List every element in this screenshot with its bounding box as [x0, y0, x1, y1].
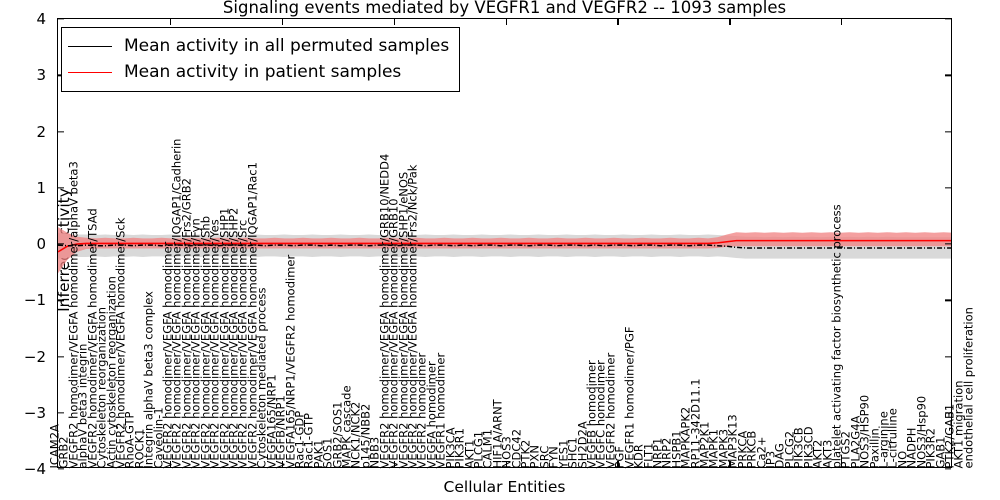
y-tick-mark	[58, 187, 64, 188]
x-tick-mark-bottom	[506, 461, 507, 467]
x-axis-title: Cellular Entities	[57, 478, 952, 496]
y-tick-mark-right	[945, 243, 951, 244]
x-tick-mark-bottom	[170, 461, 171, 467]
y-tick-label: −2	[24, 348, 46, 366]
legend-label-permuted: Mean activity in all permuted samples	[124, 36, 449, 56]
legend-entry-patient: Mean activity in patient samples	[68, 59, 449, 85]
y-tick-label: 2	[36, 123, 46, 141]
x-tick-mark-top	[394, 19, 395, 25]
y-tick-mark-right	[945, 75, 951, 76]
y-tick-label: 1	[36, 179, 46, 197]
legend-line-red-icon	[68, 72, 112, 73]
y-tick-label: −3	[24, 404, 46, 422]
y-tick-mark-right	[945, 356, 951, 357]
x-tick-mark-top	[282, 19, 283, 25]
legend-line-black-icon	[68, 46, 112, 47]
y-tick-mark	[58, 300, 64, 301]
y-tick-mark-right	[945, 300, 951, 301]
y-tick-mark-right	[945, 468, 951, 469]
y-tick-label: 3	[36, 66, 46, 84]
chart-legend: Mean activity in all permuted samples Me…	[61, 27, 460, 92]
x-tick-mark-bottom	[841, 461, 842, 467]
y-tick-mark-right	[945, 18, 951, 19]
y-tick-mark-right	[945, 412, 951, 413]
y-tick-label: 0	[36, 235, 46, 253]
y-tick-label: 4	[36, 10, 46, 28]
x-tick-mark-top	[617, 19, 618, 25]
x-tick-mark-top	[506, 19, 507, 25]
x-tick-mark-top	[841, 19, 842, 25]
y-tick-mark	[58, 243, 64, 244]
y-tick-mark	[58, 131, 64, 132]
x-category-label: AKT1 migration	[954, 380, 966, 468]
y-tick-label: −4	[24, 460, 46, 478]
y-tick-mark	[58, 18, 64, 19]
y-axis-title-host: Inferred Activity	[0, 0, 24, 500]
x-tick-mark-bottom	[729, 461, 730, 467]
y-tick-mark	[58, 412, 64, 413]
y-tick-mark-right	[945, 131, 951, 132]
y-tick-mark	[58, 356, 64, 357]
x-tick-mark-top	[170, 19, 171, 25]
y-tick-mark	[58, 468, 64, 469]
legend-label-patient: Mean activity in patient samples	[124, 62, 401, 82]
x-tick-mark-bottom	[394, 461, 395, 467]
y-tick-label: −1	[24, 291, 46, 309]
chart-title: Signaling events mediated by VEGFR1 and …	[57, 0, 952, 17]
x-tick-mark-bottom	[617, 461, 618, 467]
y-tick-mark-right	[945, 187, 951, 188]
x-category-label: endothelial cell proliferation	[963, 307, 975, 468]
legend-entry-permuted: Mean activity in all permuted samples	[68, 33, 449, 59]
x-tick-mark-top	[729, 19, 730, 25]
x-tick-mark-bottom	[282, 461, 283, 467]
